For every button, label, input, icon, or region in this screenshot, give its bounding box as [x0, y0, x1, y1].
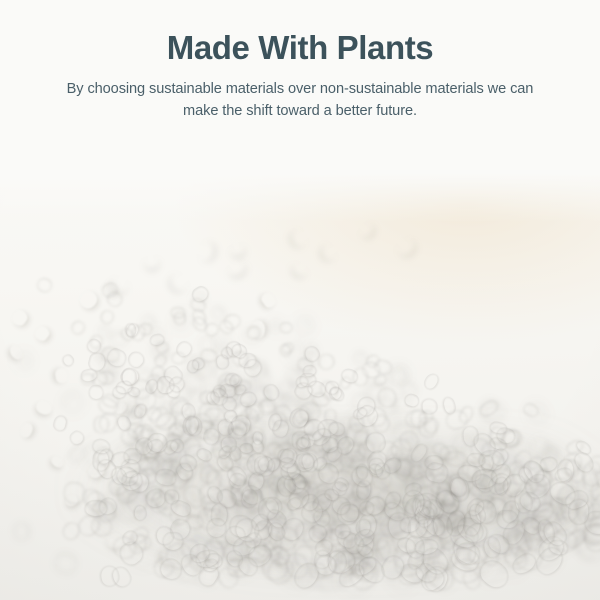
pellet: [403, 392, 420, 408]
pellet: [127, 385, 141, 397]
stray-pellet: [251, 321, 265, 339]
pellet-pile: [0, 0, 600, 600]
pellet: [116, 413, 133, 432]
pellet: [61, 353, 76, 368]
pellet: [105, 346, 128, 368]
pellet: [340, 366, 360, 384]
pellet: [132, 402, 148, 420]
pellet: [262, 382, 283, 403]
pellet: [195, 447, 214, 464]
pellet: [572, 448, 598, 474]
pellet: [52, 414, 67, 432]
pellet: [143, 378, 158, 395]
pellet: [442, 396, 458, 416]
product-marketing-graphic: Made With Plants By choosing sustainable…: [0, 0, 600, 600]
pellet: [240, 442, 254, 453]
pellet: [88, 384, 103, 399]
pellet: [67, 428, 85, 446]
pellet: [155, 467, 178, 486]
pellet: [355, 479, 371, 499]
pellet: [202, 427, 220, 446]
pellet: [149, 332, 165, 346]
pellet: [585, 510, 600, 534]
pellet: [476, 555, 514, 592]
pellet: [189, 284, 210, 304]
pellet: [424, 461, 450, 485]
pellet: [126, 324, 136, 337]
pellet: [510, 549, 540, 577]
pellet: [303, 344, 322, 364]
pellet: [144, 487, 166, 509]
pellet: [421, 371, 441, 392]
pellet: [423, 399, 438, 414]
pellets-photo: [0, 0, 600, 600]
pellet: [173, 339, 193, 359]
pellet: [134, 505, 148, 521]
